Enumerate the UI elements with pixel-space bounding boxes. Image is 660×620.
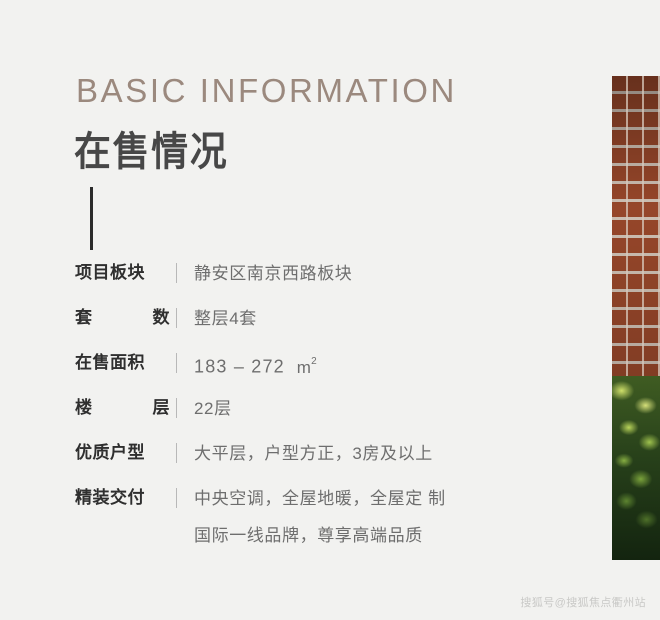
spec-value-area: 183 – 272 m2	[194, 352, 319, 379]
brick-wall-texture	[612, 76, 660, 406]
spec-label-area: 在售面积	[75, 352, 170, 374]
spec-row-project-block: 项目板块 静安区南京西路板块	[0, 262, 600, 307]
spec-separator-icon	[176, 308, 177, 328]
spec-list: 项目板块 静安区南京西路板块 套 数 整层4套 在售面积 183 – 272 m…	[0, 262, 600, 565]
spec-value-area-unit: m2	[285, 358, 319, 377]
spec-label-unit-count: 套 数	[75, 307, 170, 329]
spec-label-finishing: 精装交付	[75, 487, 170, 509]
spec-value-project-block: 静安区南京西路板块	[194, 262, 352, 285]
spec-label-char-1: 套	[75, 307, 93, 329]
spec-separator-icon	[176, 353, 177, 373]
foliage-shrub-texture	[612, 376, 660, 560]
spec-label-char-2: 数	[153, 307, 171, 329]
brick-wall-foliage-photo	[612, 76, 660, 560]
spec-separator-icon	[176, 398, 177, 418]
spec-label-char-2: 层	[153, 397, 171, 419]
spec-value-area-range: 183 – 272	[194, 357, 285, 377]
spec-label-layout: 优质户型	[75, 442, 170, 464]
spec-separator-icon	[176, 443, 177, 463]
spec-separator-icon	[176, 488, 177, 508]
spec-row-unit-count: 套 数 整层4套	[0, 307, 600, 352]
spec-row-layout: 优质户型 大平层，户型方正，3房及以上	[0, 442, 600, 487]
spec-row-finishing: 精装交付 中央空调，全屋地暖，全屋定 制 国际一线品牌，尊享高端品质	[0, 487, 600, 565]
area-unit-base: m	[297, 358, 312, 377]
spec-separator-icon	[176, 263, 177, 283]
spec-value-finishing: 中央空调，全屋地暖，全屋定 制 国际一线品牌，尊享高端品质	[194, 487, 446, 547]
spec-value-floor: 22层	[194, 397, 232, 420]
spec-value-finishing-line1: 中央空调，全屋地暖，全屋定 制	[194, 489, 446, 508]
poster-page: BASIC INFORMATION 在售情况 项目板块 静安区南京西路板块 套 …	[0, 0, 660, 620]
spec-row-area: 在售面积 183 – 272 m2	[0, 352, 600, 397]
area-unit-exponent: 2	[311, 356, 318, 367]
section-eyebrow-title: BASIC INFORMATION	[76, 72, 457, 110]
page-title: 在售情况	[74, 119, 229, 177]
spec-label-project-block: 项目板块	[75, 262, 170, 284]
spec-label-char-1: 楼	[75, 397, 93, 419]
title-divider-rule	[90, 187, 93, 250]
content-column: BASIC INFORMATION 在售情况 项目板块 静安区南京西路板块 套 …	[0, 0, 600, 620]
spec-label-floor: 楼 层	[75, 397, 170, 419]
spec-value-layout: 大平层，户型方正，3房及以上	[194, 442, 433, 465]
spec-value-finishing-line2: 国际一线品牌，尊享高端品质	[194, 524, 446, 547]
watermark-label: 搜狐号@搜狐焦点衢州站	[520, 594, 646, 610]
spec-value-unit-count: 整层4套	[194, 307, 257, 330]
spec-row-floor: 楼 层 22层	[0, 397, 600, 442]
